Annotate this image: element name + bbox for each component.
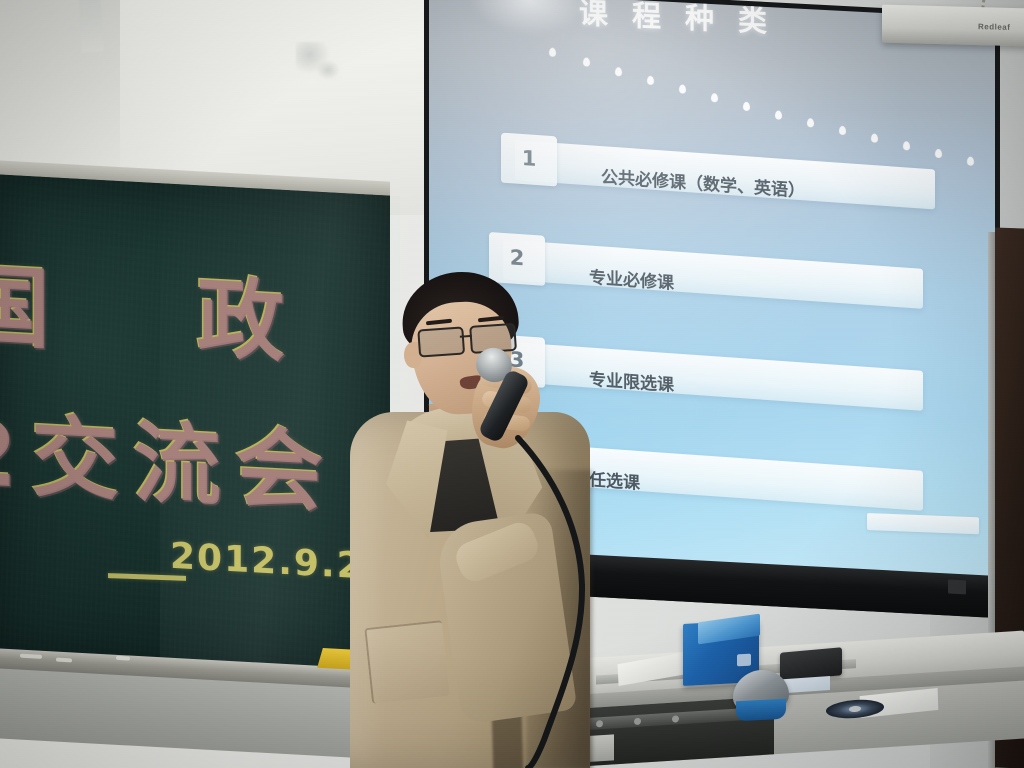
lens-left — [417, 326, 465, 357]
blue-carton-label — [737, 654, 751, 667]
screen-pull-tab-icon — [948, 579, 966, 594]
coat-pocket — [364, 620, 450, 704]
projector-brand-label: Redleaf — [978, 22, 1010, 32]
blackboard-line-1: 国 政 — [0, 234, 343, 382]
blackboard-line-2: 2交流会 — [0, 382, 337, 530]
chalk-piece — [116, 656, 130, 661]
black-pouch — [780, 647, 842, 680]
tape-residue-icon — [316, 60, 340, 80]
vacuum-flask-base — [736, 699, 786, 722]
speaker-person — [330, 270, 630, 768]
tape-residue-icon — [78, 0, 103, 53]
chalk-piece — [56, 658, 72, 663]
classroom-photo: 国 政 2交流会 2012.9.2 课程种类 — [0, 0, 1024, 768]
screen-housing: Redleaf — [882, 5, 1024, 48]
